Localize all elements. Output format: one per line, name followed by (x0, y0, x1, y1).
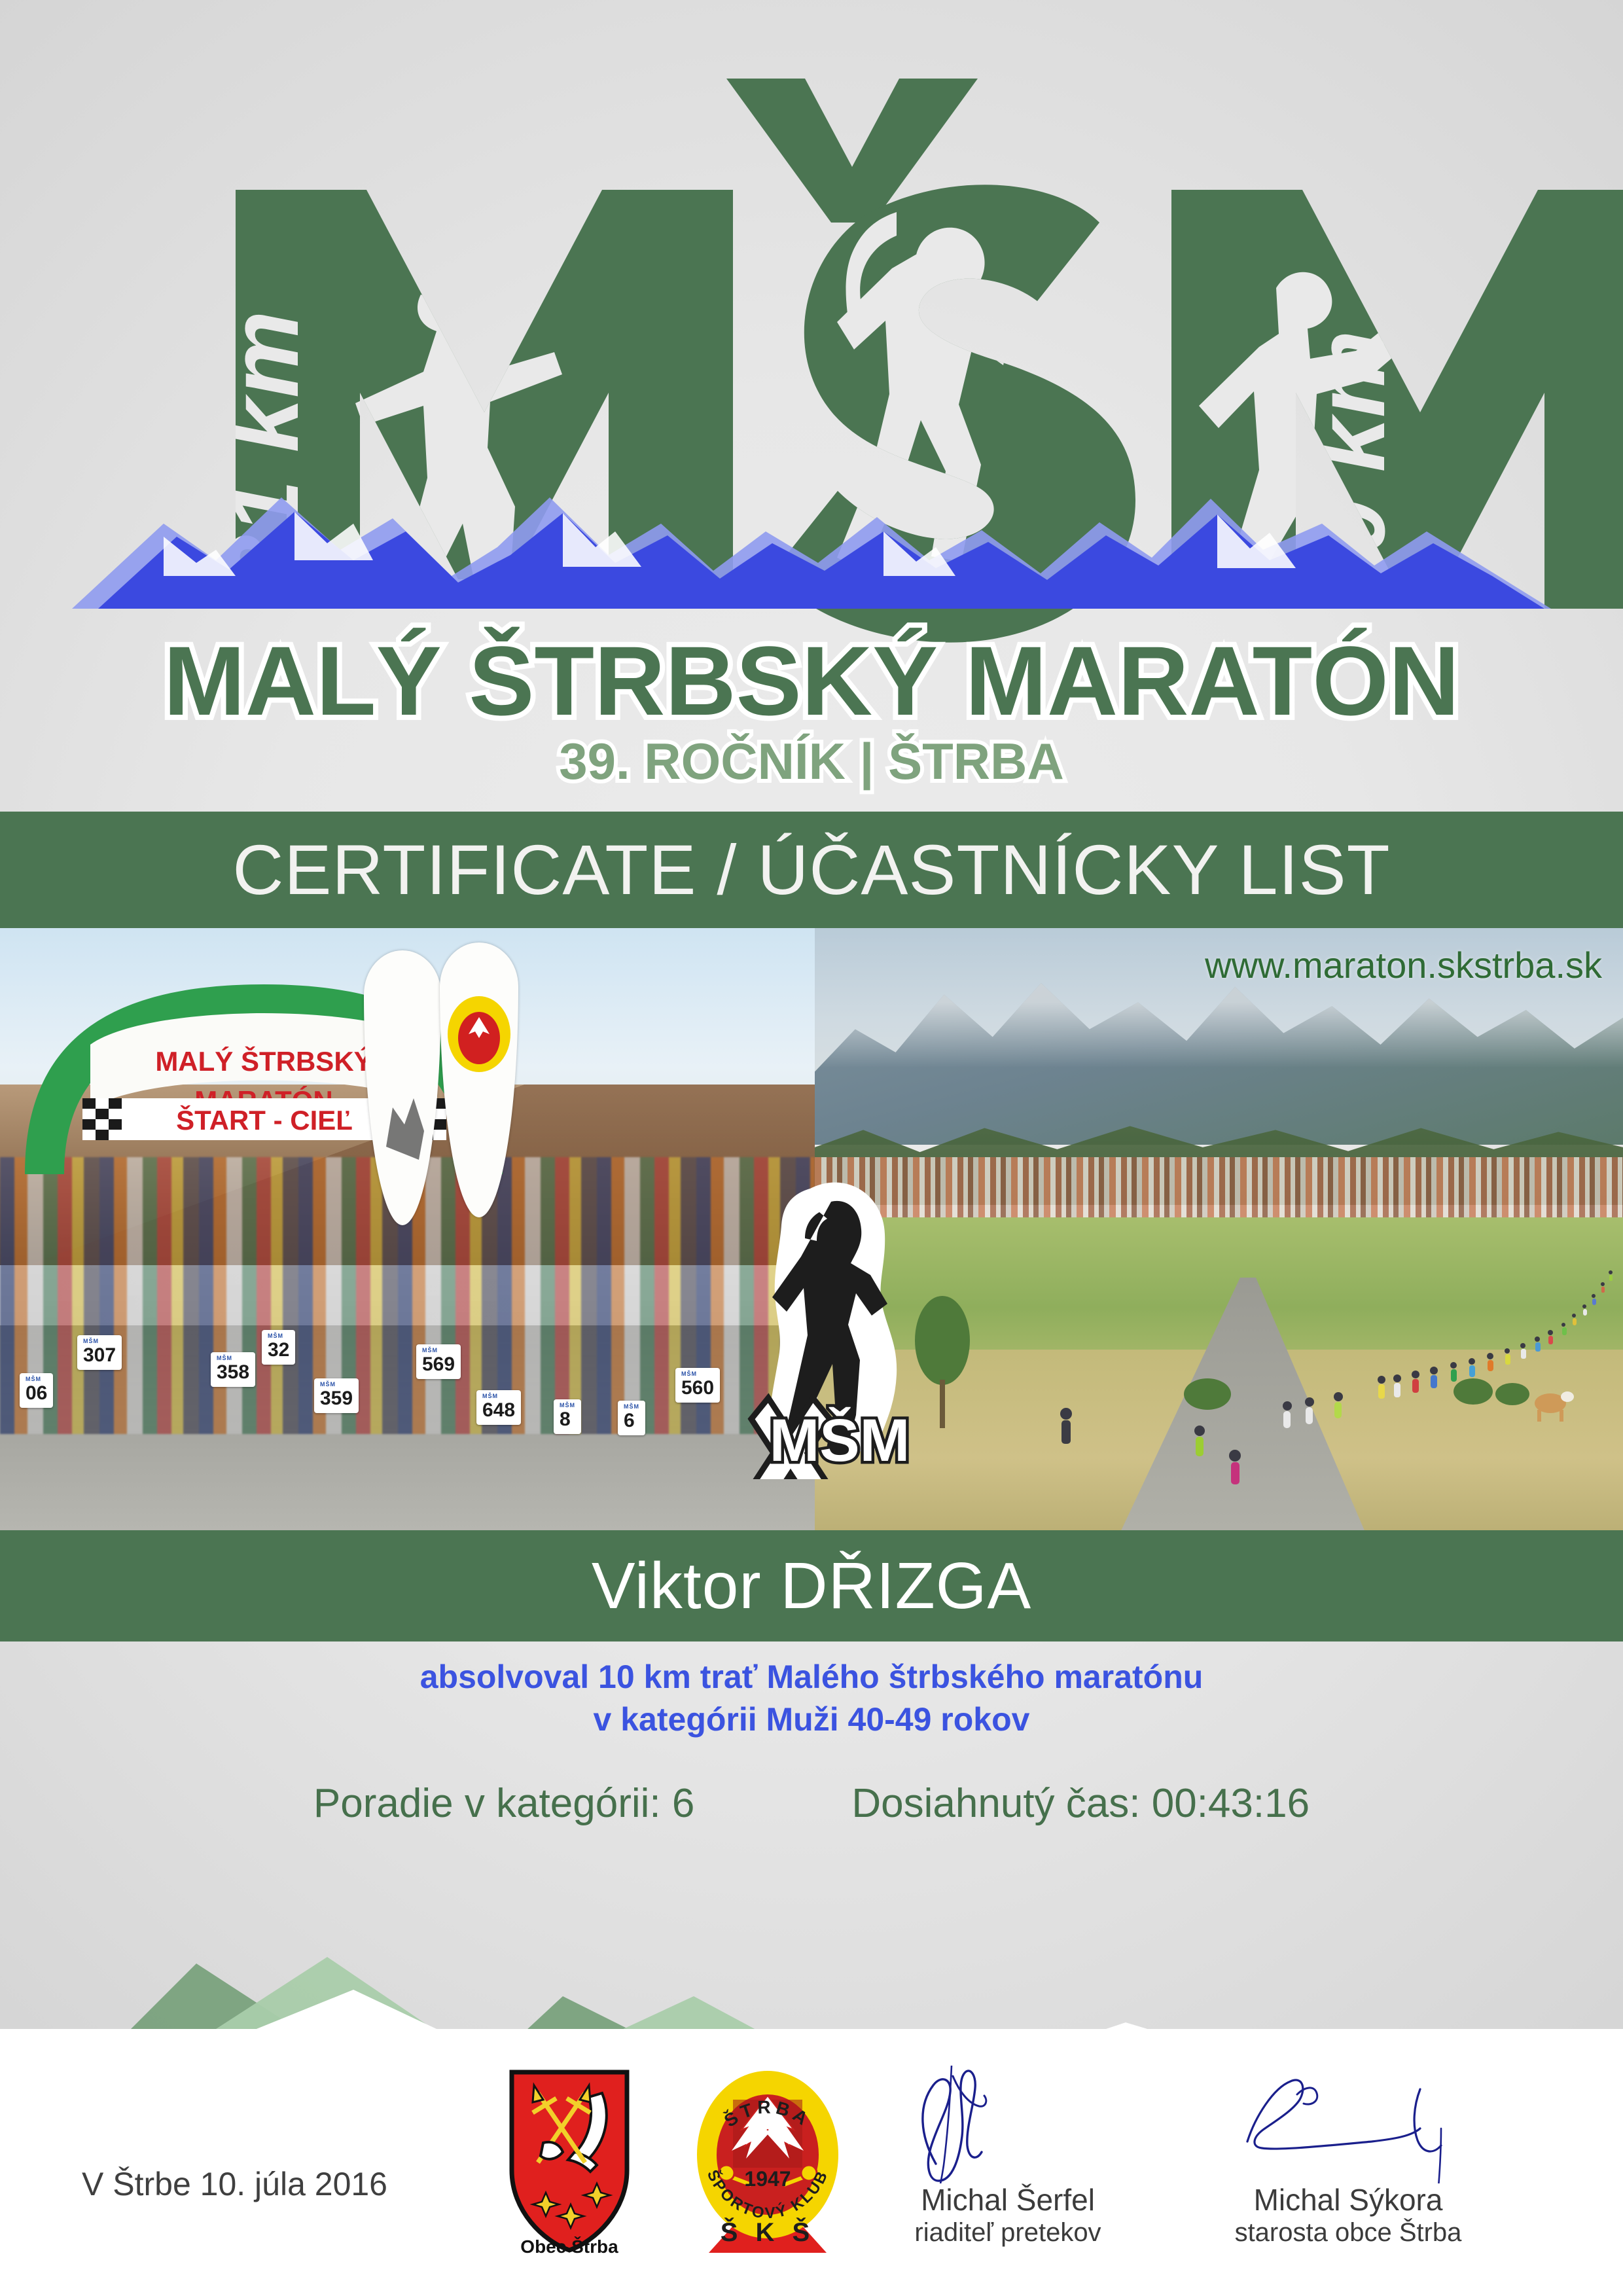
bib-number: MŠM358 (211, 1352, 255, 1387)
description-line-1: absolvoval 10 km trať Malého štrbského m… (0, 1656, 1623, 1698)
certificate-page: 31 km 31 km (0, 0, 1623, 2296)
msm-sticker-text: MŠM (770, 1407, 910, 1474)
category-rank-label: Poradie v kategórii: (313, 1781, 661, 1826)
signature-scribble-1 (857, 2066, 1158, 2183)
sks-club-crest-icon: ŠTRBA ŠPORTOVÝ KLUB 1947 Š K Š (686, 2056, 849, 2265)
sponsor-flag-sks (440, 942, 518, 1217)
certificate-title: CERTIFICATE / ÚČASTNÍCKY LIST (232, 834, 1390, 905)
bib-number: MŠM8 (554, 1399, 581, 1434)
bib-number: MŠM06 (20, 1373, 53, 1408)
footer: V Štrbe 10. júla 2016 (0, 2029, 1623, 2296)
obec-strba-crest-icon: Obec Štrba (504, 2067, 635, 2257)
msm-sticker-logo: MŠM (732, 1178, 948, 1479)
website-url[interactable]: www.maraton.skstrba.sk (1205, 944, 1602, 986)
event-logo-block: 31 km 31 km (0, 0, 1623, 812)
bib-number: MŠM307 (77, 1335, 122, 1370)
participant-name: Viktor DŘIZGA (592, 1549, 1031, 1624)
bib-number: MŠM569 (416, 1344, 461, 1379)
finish-time: Dosiahnutý čas: 00:43:16 (851, 1780, 1310, 1827)
bib-number: MŠM560 (675, 1368, 720, 1403)
category-rank-value: 6 (672, 1781, 694, 1826)
msm-sticker-wordmark: MŠM (751, 1398, 910, 1479)
arch-line-1: MALÝ ŠTRBSKÝ (155, 1045, 372, 1077)
signature-role: riaditeľ pretekov (857, 2217, 1158, 2248)
signature-role: starosta obce Štrba (1198, 2217, 1499, 2248)
description-line-2: v kategórii Muži 40-49 rokov (0, 1698, 1623, 1741)
msm-logo-graphic: 31 km 31 km (0, 0, 1623, 812)
issue-date: V Štrbe 10. júla 2016 (82, 2165, 387, 2203)
signature-block-director: Michal Šerfel riaditeľ pretekov (857, 2066, 1158, 2248)
sponsor-flag-tatry (364, 950, 441, 1225)
finish-time-value: 00:43:16 (1152, 1781, 1310, 1826)
category-rank: Poradie v kategórii: 6 (313, 1780, 694, 1827)
photo-bush (1184, 1378, 1529, 1410)
event-subtitle: 39. ROČNÍK | ŠTRBA (559, 732, 1064, 790)
bib-number: MŠM32 (262, 1330, 295, 1365)
sks-year: 1947 (744, 2167, 791, 2191)
photo-start-line: MALÝ ŠTRBSKÝ MARATÓN ŠTART - CIEĽ (0, 928, 815, 1530)
finish-time-label: Dosiahnutý čas: (851, 1781, 1140, 1826)
arch-banner-text: ŠTART - CIEĽ (176, 1104, 353, 1136)
certificate-title-bar: CERTIFICATE / ÚČASTNÍCKY LIST (0, 812, 1623, 928)
cow-shape (1535, 1391, 1574, 1422)
signature-name: Michal Sýkora (1198, 2183, 1499, 2217)
bib-number: MŠM6 (618, 1401, 645, 1435)
bib-number: MŠM648 (476, 1390, 521, 1425)
bib-number: MŠM359 (314, 1378, 359, 1413)
signature-block-mayor: Michal Sýkora starosta obce Štrba (1198, 2066, 1499, 2248)
letter-m-left: 31 km 31 km (209, 190, 733, 690)
obec-strba-label: Obec Štrba (520, 2236, 618, 2257)
participant-name-bar: Viktor DŘIZGA (0, 1530, 1623, 1641)
signature-scribble-2 (1198, 2066, 1499, 2183)
achievement-description: absolvoval 10 km trať Malého štrbského m… (0, 1656, 1623, 1741)
event-title: MALÝ ŠTRBSKÝ MARATÓN (164, 626, 1459, 736)
sks-bottom-text: Š K Š (721, 2217, 815, 2247)
signature-name: Michal Šerfel (857, 2183, 1158, 2217)
results-row: Poradie v kategórii: 6 Dosiahnutý čas: 0… (0, 1780, 1623, 1827)
